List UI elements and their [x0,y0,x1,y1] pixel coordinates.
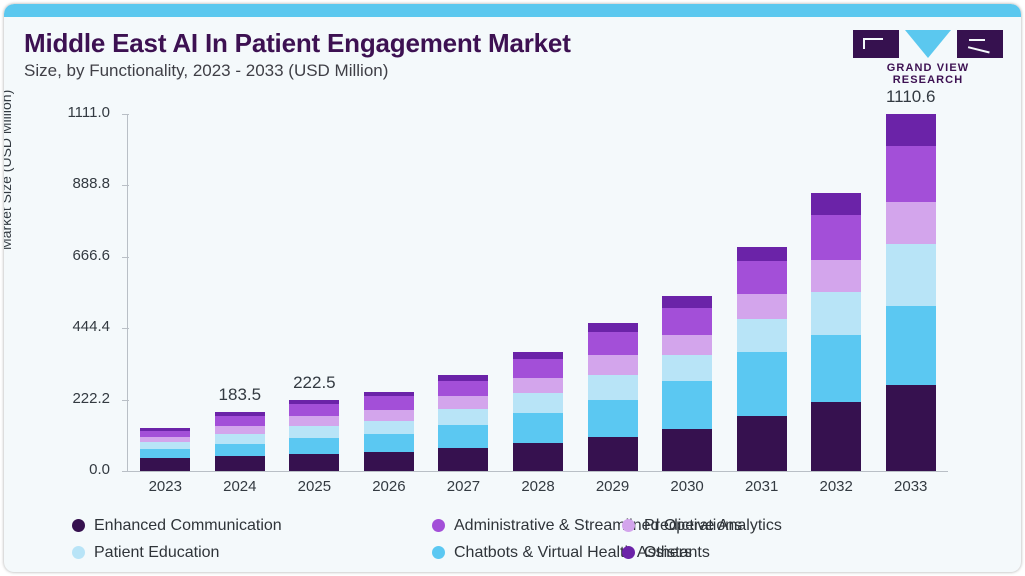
bar-segment[interactable] [811,335,861,402]
bar-2031[interactable] [737,247,787,471]
chart-legend: Enhanced CommunicationAdministrative & S… [72,512,1012,566]
y-axis-tick-label: 666.6 [72,247,110,264]
legend-item[interactable]: Predictive Analytics [622,512,782,539]
bar-segment[interactable] [140,458,190,471]
bar-segment[interactable] [289,416,339,426]
bar-segment[interactable] [662,335,712,355]
bar-segment[interactable] [364,421,414,434]
legend-color-swatch-icon [432,546,445,559]
x-axis-tick-label: 2033 [866,478,956,495]
bar-segment[interactable] [811,292,861,335]
bar-segment[interactable] [886,114,936,146]
bar-segment[interactable] [289,454,339,471]
bar-segment[interactable] [513,378,563,394]
bar-segment[interactable] [662,296,712,308]
bar-segment[interactable] [364,410,414,421]
legend-color-swatch-icon [622,519,635,532]
bar-segment[interactable] [438,396,488,409]
y-axis-tick [122,328,129,329]
y-axis-tick [122,257,129,258]
bar-segment[interactable] [588,437,638,471]
bar-segment[interactable] [737,261,787,294]
bar-2025[interactable] [289,400,339,471]
bar-segment[interactable] [215,444,265,457]
bar-2026[interactable] [364,392,414,471]
bar-segment[interactable] [513,413,563,443]
logo-wordmark: GRAND VIEW RESEARCH [853,62,1003,86]
legend-row-1: Enhanced CommunicationAdministrative & S… [72,512,1012,539]
logo-r-bar-icon [969,39,985,41]
bar-segment[interactable] [215,426,265,434]
bar-segment[interactable] [588,323,638,332]
bar-segment[interactable] [737,352,787,416]
bar-2023[interactable] [140,428,190,471]
legend-color-swatch-icon [432,519,445,532]
logo-triangle-icon [905,30,951,58]
logo-g-cut-icon [863,38,883,49]
y-axis-tick [122,185,129,186]
legend-color-swatch-icon [622,546,635,559]
bar-segment[interactable] [588,400,638,437]
bar-segment[interactable] [513,443,563,471]
bar-segment[interactable] [438,381,488,396]
bar-segment[interactable] [364,452,414,471]
y-axis-tick-label: 0.0 [89,461,110,478]
bar-2027[interactable] [438,375,488,471]
bar-segment[interactable] [215,434,265,444]
bar-segment[interactable] [364,434,414,452]
y-axis-labels: 0.0222.2444.4666.6888.81111.0 [4,4,122,572]
logo-marks [853,30,1003,58]
bar-value-label: 222.5 [269,373,359,393]
bar-2024[interactable] [215,412,265,471]
legend-item-label: Predictive Analytics [644,517,782,535]
bar-segment[interactable] [811,215,861,260]
bar-segment[interactable] [438,448,488,471]
legend-item[interactable]: Patient Education [72,539,219,566]
bar-segment[interactable] [140,442,190,449]
bar-segment[interactable] [438,409,488,425]
bar-segment[interactable] [215,416,265,426]
legend-item[interactable]: Others [622,539,692,566]
bar-segment[interactable] [289,404,339,416]
bar-value-label: 1110.6 [866,87,956,107]
bar-segment[interactable] [588,355,638,374]
legend-item[interactable]: Enhanced Communication [72,512,282,539]
y-axis-tick [122,400,129,401]
legend-color-swatch-icon [72,519,85,532]
bar-segment[interactable] [513,359,563,377]
chart-card: Middle East AI In Patient Engagement Mar… [4,4,1021,572]
bar-segment[interactable] [811,193,861,215]
bar-segment[interactable] [737,294,787,319]
legend-item-label: Patient Education [94,544,219,562]
bar-segment[interactable] [737,319,787,352]
legend-color-swatch-icon [72,546,85,559]
bar-segment[interactable] [662,355,712,381]
bar-segment[interactable] [289,438,339,454]
bar-segment[interactable] [811,260,861,292]
bar-segment[interactable] [811,402,861,471]
bar-segment[interactable] [588,375,638,400]
y-axis-tick-label: 222.2 [72,390,110,407]
bar-segment[interactable] [438,425,488,448]
bar-segment[interactable] [513,352,563,359]
bar-segment[interactable] [886,202,936,244]
legend-row-2: Patient EducationChatbots & Virtual Heal… [72,539,1012,566]
bar-segment[interactable] [886,306,936,385]
legend-item-label: Enhanced Communication [94,517,282,535]
bar-segment[interactable] [588,332,638,355]
bar-segment[interactable] [886,244,936,306]
bar-segment[interactable] [662,381,712,429]
bar-segment[interactable] [289,426,339,438]
grand-view-research-logo: GRAND VIEW RESEARCH [853,30,1003,78]
y-axis-tick-label: 1111.0 [67,104,110,121]
bar-2030[interactable] [662,296,712,471]
bar-segment[interactable] [662,308,712,335]
bar-2029[interactable] [588,323,638,471]
bar-segment[interactable] [513,393,563,413]
bar-2033[interactable] [886,114,936,471]
bar-segment[interactable] [364,396,414,409]
y-axis-tick-label: 444.4 [72,318,110,335]
bar-2028[interactable] [513,352,563,471]
bar-segment[interactable] [662,429,712,471]
bar-segment[interactable] [140,449,190,458]
y-axis-tick [122,471,129,472]
top-accent-bar [4,4,1021,17]
bar-segment[interactable] [737,247,787,261]
logo-block-left-icon [853,30,899,58]
y-axis-tick [122,114,129,115]
x-axis-line [127,471,948,472]
bar-2032[interactable] [811,193,861,471]
y-axis-tick-label: 888.8 [72,175,110,192]
legend-item-label: Others [644,544,692,562]
bar-segment[interactable] [886,146,936,202]
bar-segment[interactable] [215,456,265,471]
plot-area [128,114,948,471]
bar-segment[interactable] [886,385,936,471]
bar-segment[interactable] [737,416,787,471]
